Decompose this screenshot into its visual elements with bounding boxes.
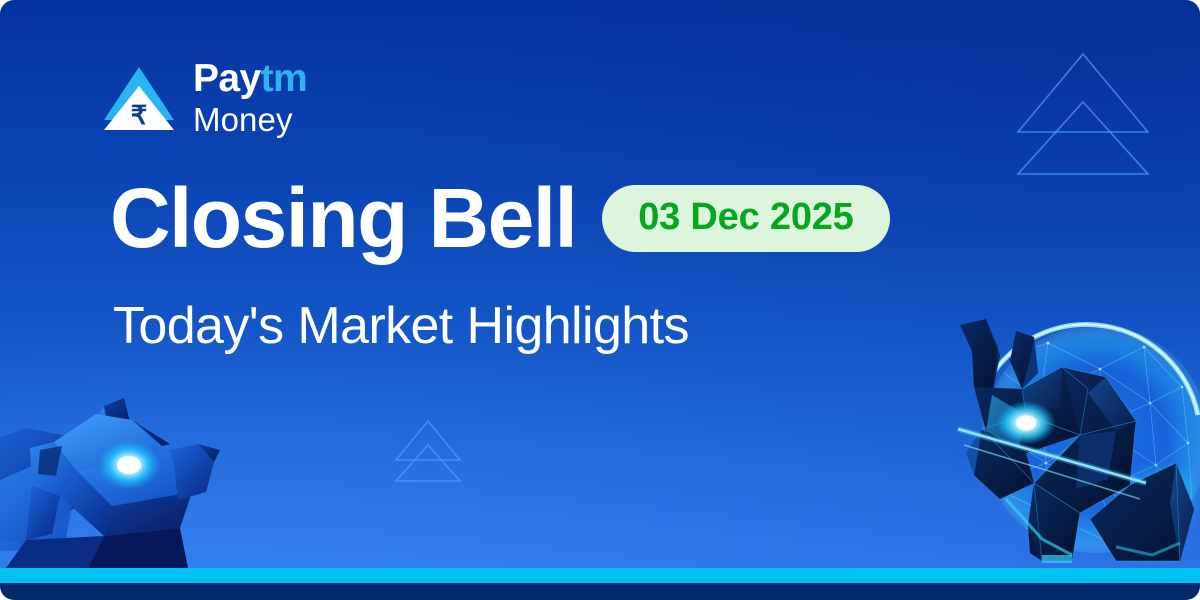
paytm-triangle-rupee-logo: ₹: [100, 58, 178, 136]
closing-bell-banner: ₹ Paytm Money Closing Bell 03 Dec 2025 T…: [0, 0, 1200, 600]
paytm-money-logo[interactable]: ₹ Paytm Money: [100, 58, 307, 136]
brand-pay: Pay: [193, 57, 261, 100]
page-subtitle: Today's Market Highlights: [113, 297, 689, 355]
double-chevron-outline-small: [392, 418, 464, 484]
low-poly-bear-mascot: [0, 388, 242, 568]
low-poly-bull-mascot: [930, 303, 1200, 568]
brand-tm: tm: [261, 57, 307, 100]
footer-accent-bar-cyan: [0, 568, 1200, 583]
money-wordmark: Money: [193, 103, 307, 136]
paytm-wordmark: Paytm: [193, 59, 307, 98]
page-title: Closing Bell: [110, 176, 576, 260]
paytm-money-wordmark: Paytm Money: [193, 59, 307, 136]
double-chevron-outline-large: [1008, 48, 1158, 178]
headline-row: Closing Bell 03 Dec 2025: [110, 176, 890, 260]
date-badge: 03 Dec 2025: [602, 185, 889, 252]
footer-accent-bar-navy: [0, 583, 1200, 600]
svg-text:₹: ₹: [131, 100, 148, 130]
